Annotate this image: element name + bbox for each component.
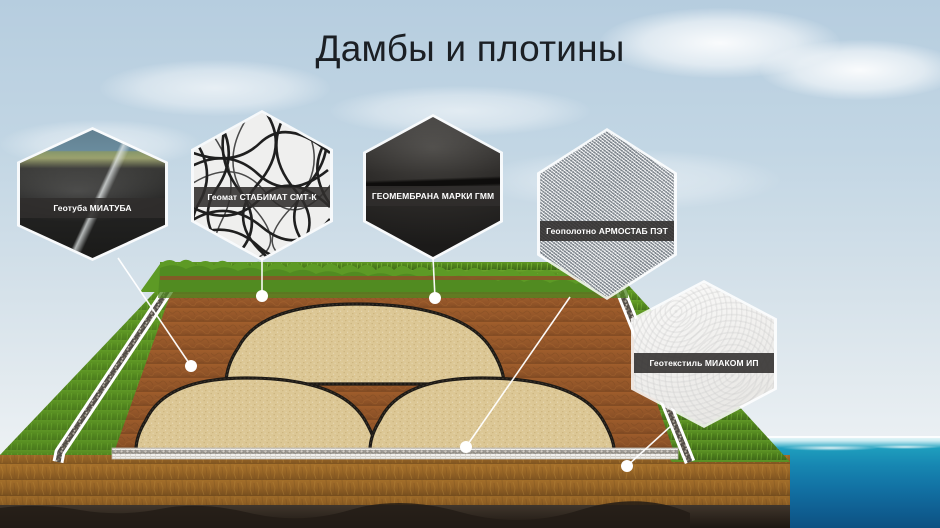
hex-image-geomembrane: ГЕОМЕМБРАНА МАРКИ ГММ <box>366 117 500 257</box>
geotube-photo-icon <box>20 130 165 258</box>
callout-card-geopolotno[interactable]: Геополотно АРМОСТАБ ПЭТ <box>540 131 674 297</box>
hex-image-geotextile: Геотекстиль МИАКОМ ИП <box>634 283 774 425</box>
callout-card-geotextile[interactable]: Геотекстиль МИАКОМ ИП <box>634 283 774 425</box>
callout-card-geotube[interactable]: Геотуба МИАТУБА <box>20 130 165 258</box>
geotextile-bottom-liner <box>112 448 678 459</box>
callout-label-geotube: Геотуба МИАТУБА <box>20 198 165 218</box>
hex-image-geotube: Геотуба МИАТУБА <box>20 130 165 258</box>
callout-label-geopolotno: Геополотно АРМОСТАБ ПЭТ <box>540 221 674 241</box>
geopolotno-weave-icon <box>540 131 674 297</box>
callout-label-geomembrane: ГЕОМЕМБРАНА МАРКИ ГММ <box>366 186 500 206</box>
page-title: Дамбы и плотины <box>0 28 940 70</box>
slide-canvas: Дамбы и плотины <box>0 0 940 528</box>
dam-cross-section-diagram <box>0 0 940 528</box>
callout-card-geomembrane[interactable]: ГЕОМЕМБРАНА МАРКИ ГММ <box>366 117 500 257</box>
hex-image-geomat: Геомат СТАБИМАТ СМТ-К <box>194 113 330 258</box>
callout-label-geotextile: Геотекстиль МИАКОМ ИП <box>634 353 774 373</box>
callout-label-geomat: Геомат СТАБИМАТ СМТ-К <box>194 187 330 207</box>
bedrock-layer <box>0 501 790 528</box>
geomat-texture-icon <box>194 113 330 258</box>
hex-image-geopolotno: Геополотно АРМОСТАБ ПЭТ <box>540 131 674 297</box>
callout-card-geomat[interactable]: Геомат СТАБИМАТ СМТ-К <box>194 113 330 258</box>
